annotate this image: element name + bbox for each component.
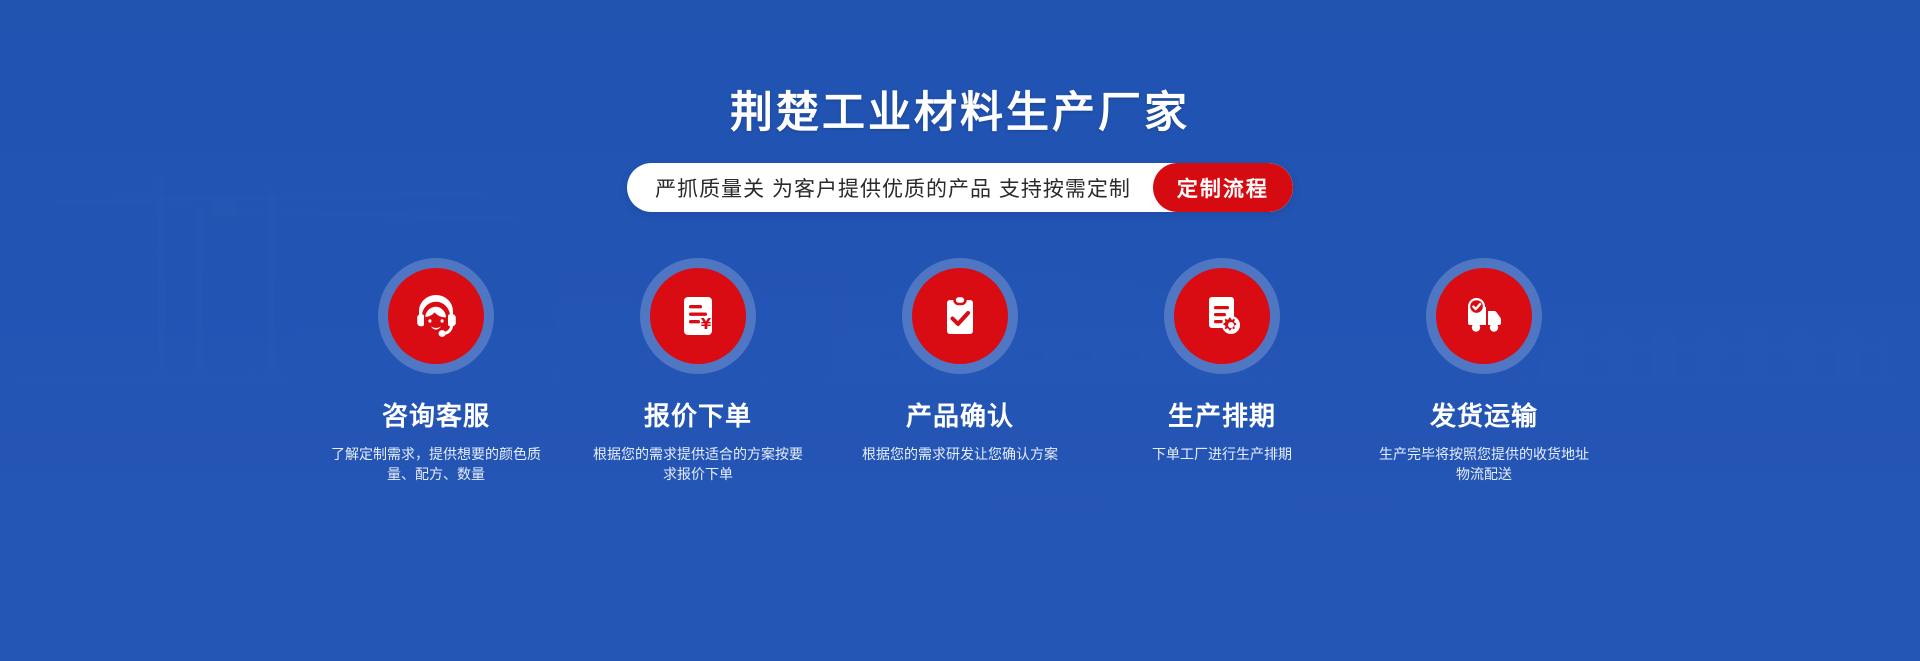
step-icon-ring <box>378 258 494 374</box>
promo-pill: 严抓质量关 为客户提供优质的产品 支持按需定制 定制流程 <box>627 163 1293 212</box>
step-description: 了解定制需求，提供想要的颜色质量、配方、数量 <box>331 444 541 484</box>
step-icon-disc <box>1436 268 1532 364</box>
process-step[interactable]: 发货运输 生产完毕将按照您提供的收货地址物流配送 <box>1377 258 1591 484</box>
step-title: 生产排期 <box>1168 396 1276 433</box>
process-steps: 咨询客服 了解定制需求，提供想要的颜色质量、配方、数量 ¥ <box>329 258 1591 484</box>
process-step[interactable]: ¥ 报价下单 根据您的需求提供适合的方案按要求报价下单 <box>591 258 805 484</box>
banner-content: 荆楚工业材料生产厂家 严抓质量关 为客户提供优质的产品 支持按需定制 定制流程 <box>0 0 1920 661</box>
headset-support-icon <box>409 289 463 343</box>
page-title: 荆楚工业材料生产厂家 <box>730 92 1190 135</box>
step-description: 生产完毕将按照您提供的收货地址物流配送 <box>1379 444 1589 484</box>
document-gear-icon <box>1197 291 1247 341</box>
step-description: 下单工厂进行生产排期 <box>1117 444 1327 464</box>
quote-invoice-yuan-icon: ¥ <box>673 291 723 341</box>
step-icon-ring <box>902 258 1018 374</box>
step-description: 根据您的需求提供适合的方案按要求报价下单 <box>593 444 803 484</box>
clipboard-check-icon <box>935 291 985 341</box>
promo-text: 严抓质量关 为客户提供优质的产品 支持按需定制 <box>655 173 1153 203</box>
step-icon-disc: ¥ <box>650 268 746 364</box>
svg-text:¥: ¥ <box>701 315 712 333</box>
step-icon-disc <box>388 268 484 364</box>
step-title: 咨询客服 <box>382 396 490 433</box>
process-step[interactable]: 生产排期 下单工厂进行生产排期 <box>1115 258 1329 464</box>
step-icon-ring <box>1164 258 1280 374</box>
step-icon-disc <box>912 268 1008 364</box>
step-icon-disc <box>1174 268 1270 364</box>
step-title: 产品确认 <box>906 396 1014 433</box>
step-title: 发货运输 <box>1430 396 1538 433</box>
process-step[interactable]: 产品确认 根据您的需求研发让您确认方案 <box>853 258 1067 464</box>
delivery-truck-check-icon <box>1457 289 1511 343</box>
process-step[interactable]: 咨询客服 了解定制需求，提供想要的颜色质量、配方、数量 <box>329 258 543 484</box>
step-title: 报价下单 <box>644 396 752 433</box>
step-icon-ring <box>1426 258 1542 374</box>
custom-process-button[interactable]: 定制流程 <box>1153 163 1293 212</box>
step-description: 根据您的需求研发让您确认方案 <box>855 444 1065 464</box>
step-icon-ring: ¥ <box>640 258 756 374</box>
hero-banner: 荆楚工业材料生产厂家 严抓质量关 为客户提供优质的产品 支持按需定制 定制流程 <box>0 0 1920 661</box>
